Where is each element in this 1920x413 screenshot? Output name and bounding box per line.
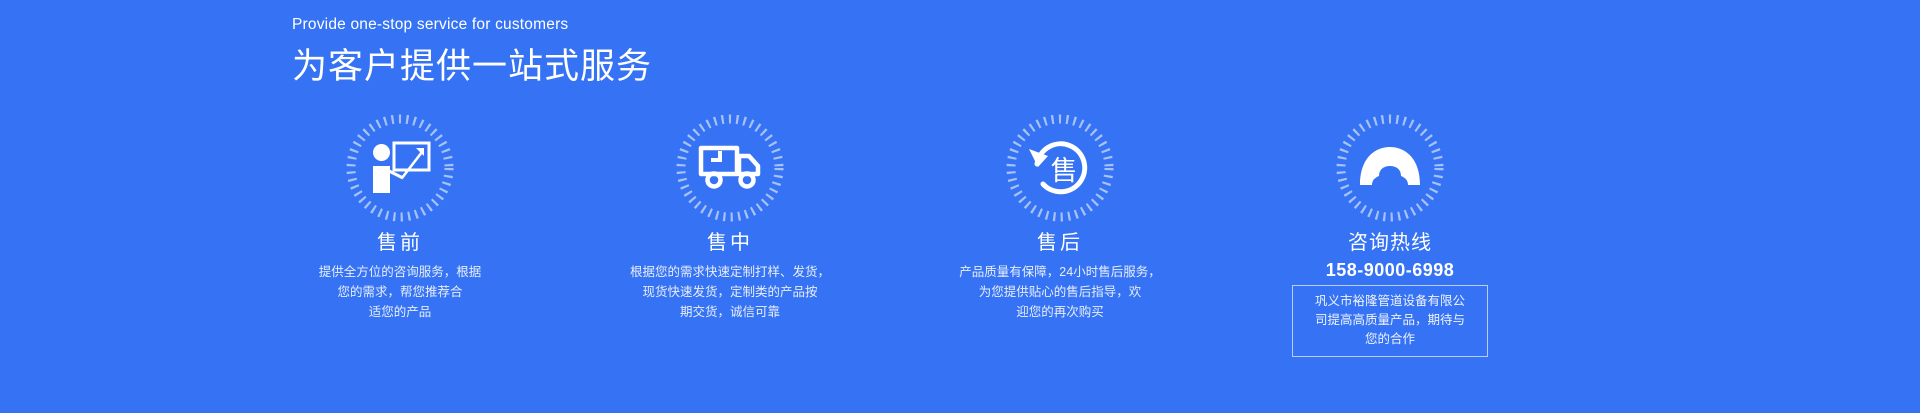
desc-line: 产品质量有保障，24小时售后服务， — [910, 262, 1210, 282]
after-sale-arrow-icon: 售 — [1004, 112, 1116, 224]
column-title: 售后 — [910, 228, 1210, 258]
service-column-aftersale: 售 售后 产品质量有保障，24小时售后服务， 为您提供贴心的售后指导，欢 迎您的… — [910, 112, 1210, 357]
banner-title: 为客户提供一站式服务 — [292, 46, 652, 88]
company-note: 巩义市裕隆管道设备有限公 司提高高质量产品，期待与 您的合作 — [1292, 285, 1488, 357]
service-banner: Provide one-stop service for customers 为… — [0, 0, 1920, 413]
service-column-insale: 售中 根据您的需求快速定制打样、发货， 现货快速发货，定制类的产品按 期交货，诚… — [580, 112, 880, 357]
note-line: 您的合作 — [1301, 330, 1479, 349]
icon-ring-hotline — [1334, 112, 1446, 224]
desc-line: 提供全方位的咨询服务，根据 — [250, 262, 550, 282]
desc-line: 现货快速发货，定制类的产品按 — [580, 282, 880, 302]
note-line: 司提高高质量产品，期待与 — [1301, 311, 1479, 330]
telephone-icon — [1334, 112, 1446, 224]
note-line: 巩义市裕隆管道设备有限公 — [1301, 292, 1479, 311]
delivery-truck-icon — [674, 112, 786, 224]
column-title: 咨询热线 — [1240, 228, 1540, 258]
column-title: 售中 — [580, 228, 880, 258]
banner-eyebrow: Provide one-stop service for customers — [292, 16, 652, 34]
column-description: 产品质量有保障，24小时售后服务， 为您提供贴心的售后指导，欢 迎您的再次购买 — [910, 262, 1210, 322]
icon-ring-presale — [344, 112, 456, 224]
desc-line: 适您的产品 — [250, 302, 550, 322]
desc-line: 迎您的再次购买 — [910, 302, 1210, 322]
icon-ring-aftersale: 售 — [1004, 112, 1116, 224]
service-column-hotline: 咨询热线 158-9000-6998 巩义市裕隆管道设备有限公 司提高高质量产品… — [1240, 112, 1540, 357]
desc-line: 您的需求，帮您推荐合 — [250, 282, 550, 302]
svg-text:售: 售 — [1051, 156, 1078, 186]
desc-line: 根据您的需求快速定制打样、发货， — [580, 262, 880, 282]
hotline-number[interactable]: 158-9000-6998 — [1240, 259, 1540, 281]
icon-ring-insale — [674, 112, 786, 224]
service-column-presale: 售前 提供全方位的咨询服务，根据 您的需求，帮您推荐合 适您的产品 — [250, 112, 550, 357]
service-columns: 售前 提供全方位的咨询服务，根据 您的需求，帮您推荐合 适您的产品 — [250, 112, 1540, 357]
presentation-person-icon — [344, 112, 456, 224]
column-description: 提供全方位的咨询服务，根据 您的需求，帮您推荐合 适您的产品 — [250, 262, 550, 322]
column-description: 根据您的需求快速定制打样、发货， 现货快速发货，定制类的产品按 期交货，诚信可靠 — [580, 262, 880, 322]
desc-line: 期交货，诚信可靠 — [580, 302, 880, 322]
column-title: 售前 — [250, 228, 550, 258]
banner-heading: Provide one-stop service for customers 为… — [292, 16, 652, 88]
desc-line: 为您提供贴心的售后指导，欢 — [910, 282, 1210, 302]
